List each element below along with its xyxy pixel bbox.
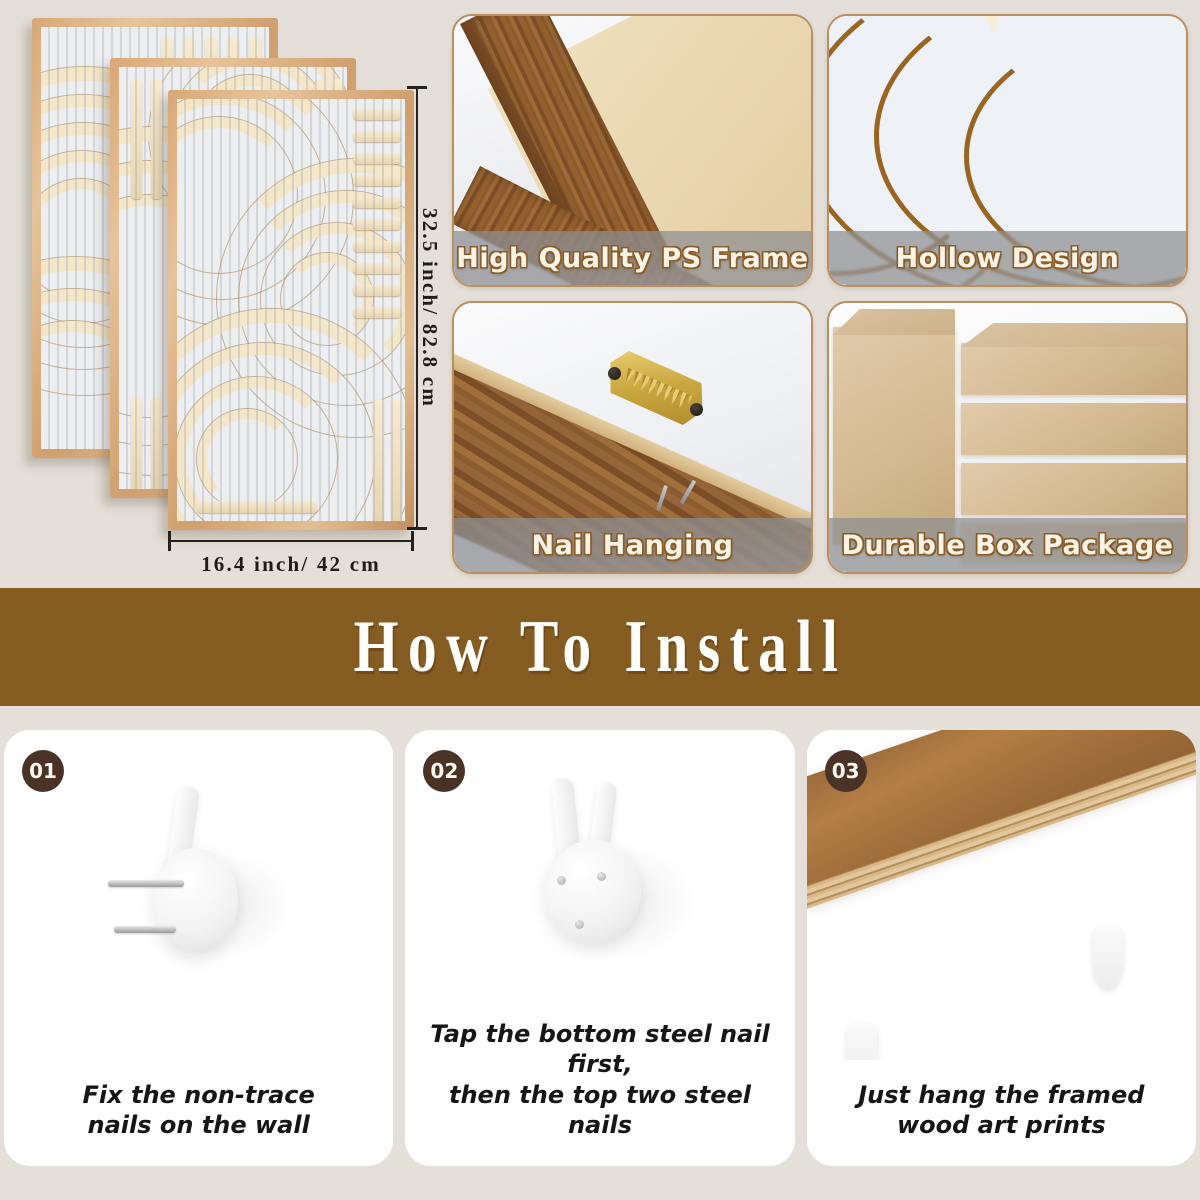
product-overview-section: 32.5 inch/ 82.8 cm 16.4 inch/ 42 cm High… <box>0 0 1200 588</box>
height-dimension-label: 32.5 inch/ 82.8 cm <box>417 86 442 530</box>
feature-label-bar: Nail Hanging <box>454 518 811 572</box>
feature-label-text: High Quality PS Frame <box>456 243 808 274</box>
step-photo-02 <box>405 730 794 1060</box>
step-number: 01 <box>29 759 57 783</box>
screw-icon <box>690 403 703 416</box>
caption-line-2: nails on the wall <box>16 1110 381 1140</box>
feature-label-bar: High Quality PS Frame <box>454 231 811 285</box>
feature-card-nail-hanging: Nail Hanging <box>452 301 813 574</box>
wood-art-frame-3 <box>168 90 414 530</box>
caption-line-2: wood art prints <box>819 1110 1184 1140</box>
installation-steps: 01 Fix the non-trace nails on the wall 0… <box>0 730 1200 1166</box>
step-card-01: 01 Fix the non-trace nails on the wall <box>4 730 393 1166</box>
step-caption-02: Tap the bottom steel nail first, then th… <box>417 1019 782 1140</box>
feature-grid: High Quality PS Frame <box>452 14 1188 574</box>
width-dimension-label: 16.4 inch/ 42 cm <box>150 552 432 577</box>
step-number: 03 <box>832 759 860 783</box>
banner-title: How To Install <box>353 605 847 690</box>
step-caption-03: Just hang the framed wood art prints <box>819 1080 1184 1140</box>
feature-label-text: Durable Box Package <box>841 530 1173 561</box>
step-number: 02 <box>430 759 458 783</box>
hero-product-image: 32.5 inch/ 82.8 cm 16.4 inch/ 42 cm <box>0 0 448 588</box>
screw-icon <box>608 367 621 380</box>
feature-card-ps-frame: High Quality PS Frame <box>452 14 813 287</box>
feature-label-bar: Hollow Design <box>829 231 1186 285</box>
caption-line-2: then the top two steel nails <box>417 1080 782 1140</box>
step-card-03: 03 Just hang the framed wood art prints <box>807 730 1196 1166</box>
infographic-page: 32.5 inch/ 82.8 cm 16.4 inch/ 42 cm High… <box>0 0 1200 1200</box>
feature-label-bar: Durable Box Package <box>829 518 1186 572</box>
caption-line-1: Just hang the framed <box>858 1081 1144 1109</box>
feature-label-text: Nail Hanging <box>532 530 734 561</box>
step-number-badge: 01 <box>22 750 64 792</box>
wall-hook <box>847 1022 877 1060</box>
caption-line-1: Tap the bottom steel nail first, <box>430 1020 770 1078</box>
feature-card-box-package: Durable Box Package <box>827 301 1188 574</box>
feature-label-text: Hollow Design <box>896 243 1120 274</box>
caption-line-1: Fix the non-trace <box>83 1081 315 1109</box>
wall-hook <box>1093 926 1123 988</box>
step-caption-01: Fix the non-trace nails on the wall <box>16 1080 381 1140</box>
feature-card-hollow-design: Hollow Design <box>827 14 1188 287</box>
step-photo-01 <box>4 730 393 1060</box>
step-card-02: 02 Tap the bottom steel nail first, then… <box>405 730 794 1166</box>
step-number-badge: 03 <box>825 750 867 792</box>
how-to-install-banner: How To Install <box>0 588 1200 706</box>
width-dimension-line <box>168 540 414 542</box>
